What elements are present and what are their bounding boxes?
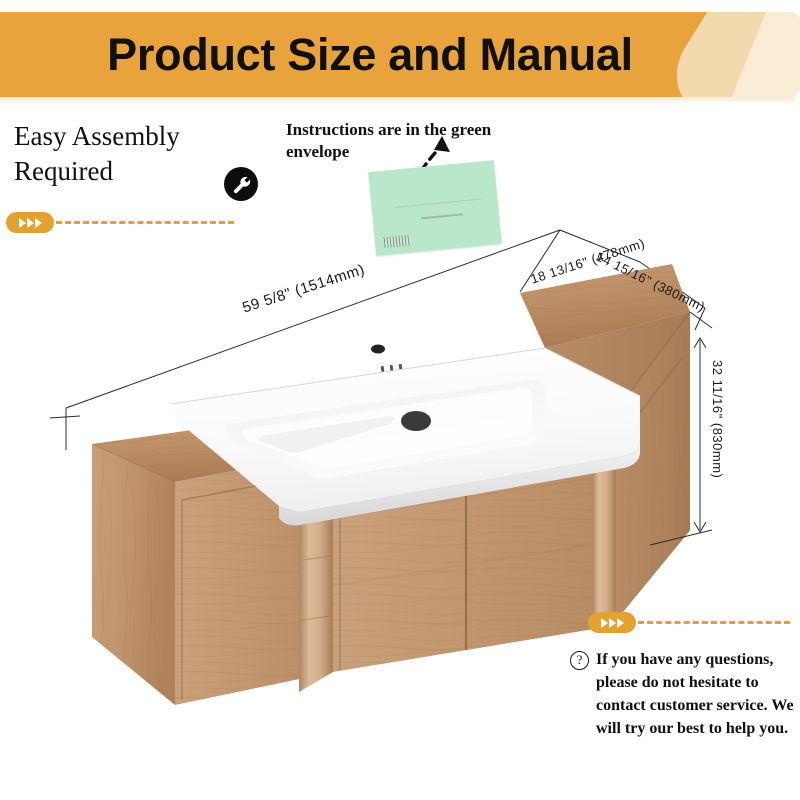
faucet-hole [371,345,385,354]
chevron-right-icon [609,618,616,628]
dimension-height-label: 32 11/16" (830mm) [710,360,725,478]
divider-right [588,612,794,634]
customer-service-text: If you have any questions, please do not… [596,648,796,740]
chevron-arrow-badge [588,612,636,633]
assembly-label: Easy Assembly Required [14,119,214,189]
question-mark-icon: ? [570,651,589,670]
dashed-rule [638,621,790,624]
chevron-right-icon [601,618,608,628]
assembly-block: Easy Assembly Required [14,119,274,189]
page-title: Product Size and Manual [0,12,740,97]
header-shadow [0,97,795,104]
chevron-right-icon [617,618,624,628]
wrench-icon [224,167,258,201]
customer-service-block: ? If you have any questions, please do n… [570,648,796,740]
sink-drain [401,411,431,431]
header-banner: Product Size and Manual [0,12,800,97]
